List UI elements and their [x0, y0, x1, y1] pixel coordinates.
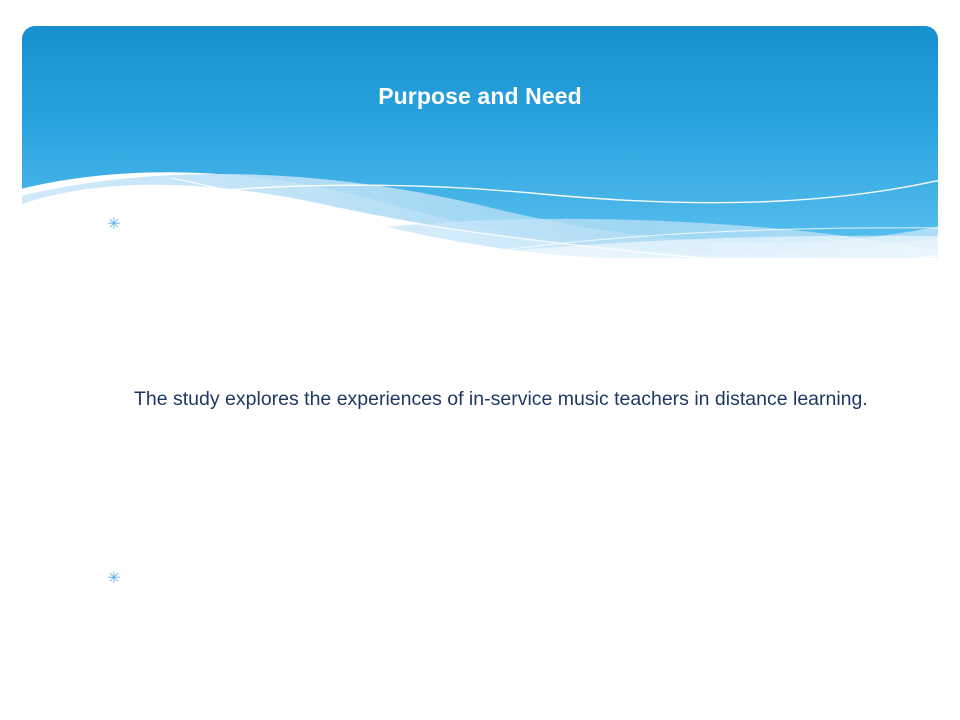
asterisk-bullet-icon: ✳	[105, 550, 123, 608]
list-item: ✳ This paper examines the motivations of…	[104, 550, 904, 720]
slide: Purpose and Need ✳ The study explores th…	[0, 0, 960, 720]
bullet-list: ✳ The study explores the experiences of …	[104, 196, 904, 720]
list-item-text: The study explores the experiences of in…	[134, 370, 904, 428]
slide-title: Purpose and Need	[22, 83, 938, 111]
list-item: ✳ The study explores the experiences of …	[104, 196, 904, 544]
asterisk-bullet-icon: ✳	[105, 196, 123, 254]
